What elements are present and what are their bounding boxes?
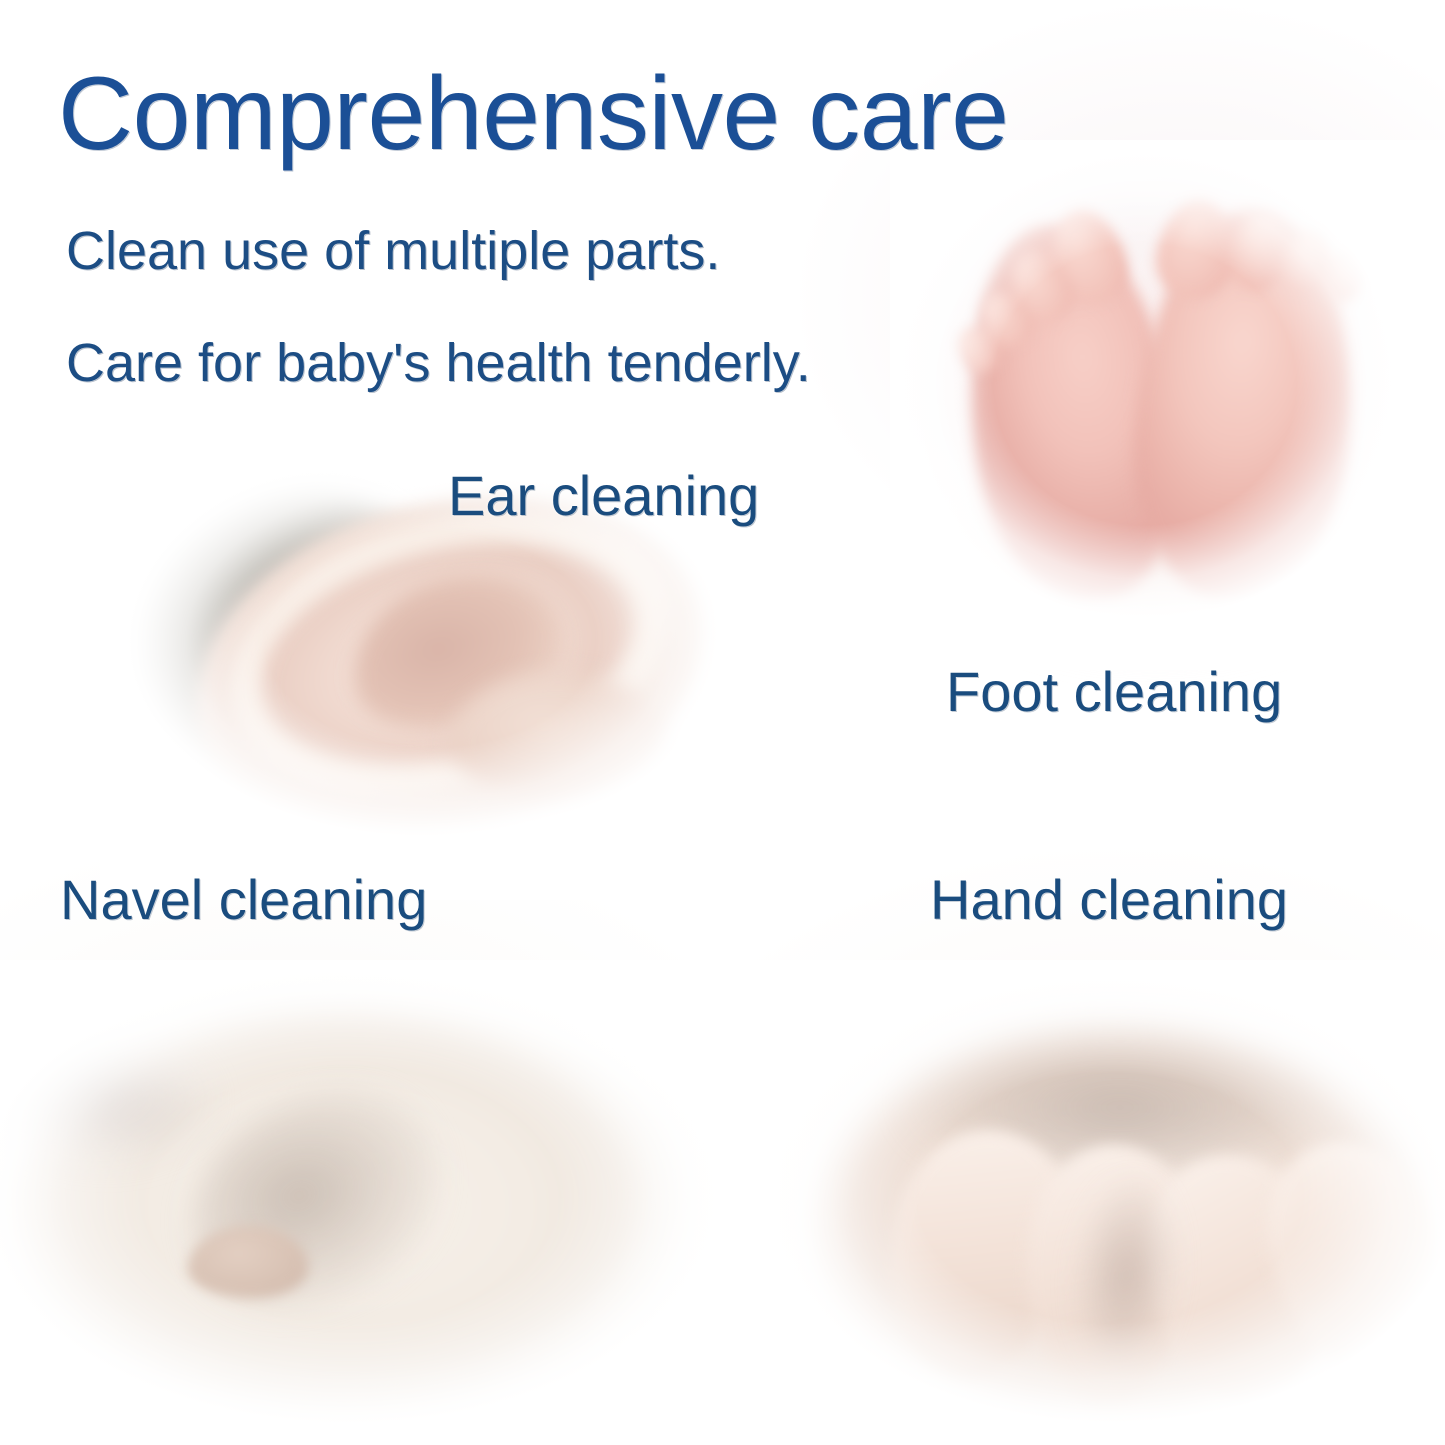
page-title: Comprehensive care: [58, 60, 1009, 169]
caption-foot-cleaning: Foot cleaning: [946, 664, 1282, 720]
navel-crease: [157, 1059, 473, 1342]
hand-finger-gap: [1068, 1176, 1183, 1375]
caption-hand-cleaning: Hand cleaning: [930, 872, 1288, 928]
subtitle-line-2: Care for baby's health tenderly.: [66, 334, 811, 393]
ear-hair-shadow: [130, 490, 460, 790]
navel-belly: [10, 1000, 700, 1430]
navel-knot: [188, 1226, 308, 1298]
subtitle-line-1: Clean use of multiple parts.: [66, 222, 720, 281]
baby-hand-photo: [760, 980, 1445, 1445]
hand-edge-fade: [740, 960, 1445, 1445]
navel-upper-fold: [0, 1040, 210, 1160]
comprehensive-care-poster: Comprehensive care Clean use of multiple…: [0, 0, 1445, 1445]
hand-finger-2: [1012, 1137, 1208, 1413]
hand-palm: [810, 1010, 1430, 1430]
right-foot-sole: [1121, 199, 1370, 611]
baby-navel-photo: [0, 980, 760, 1445]
ear-lobe: [450, 672, 665, 802]
caption-navel-cleaning: Navel cleaning: [60, 872, 427, 928]
navel-edge-fade: [0, 960, 780, 1445]
hand-finger-4: [1244, 1122, 1445, 1403]
feet-halo: [900, 150, 1445, 660]
feet-shadow: [940, 450, 1370, 660]
hand-finger-3: [1133, 1144, 1341, 1416]
hand-finger-1: [862, 1112, 1097, 1398]
hand-knuckle-shadow: [910, 1025, 1330, 1175]
caption-ear-cleaning: Ear cleaning: [448, 468, 759, 524]
left-foot-sole: [948, 211, 1198, 613]
baby-feet-photo: [900, 150, 1445, 660]
feet-edge-fade: [890, 140, 1445, 670]
ear-concha: [333, 551, 581, 754]
